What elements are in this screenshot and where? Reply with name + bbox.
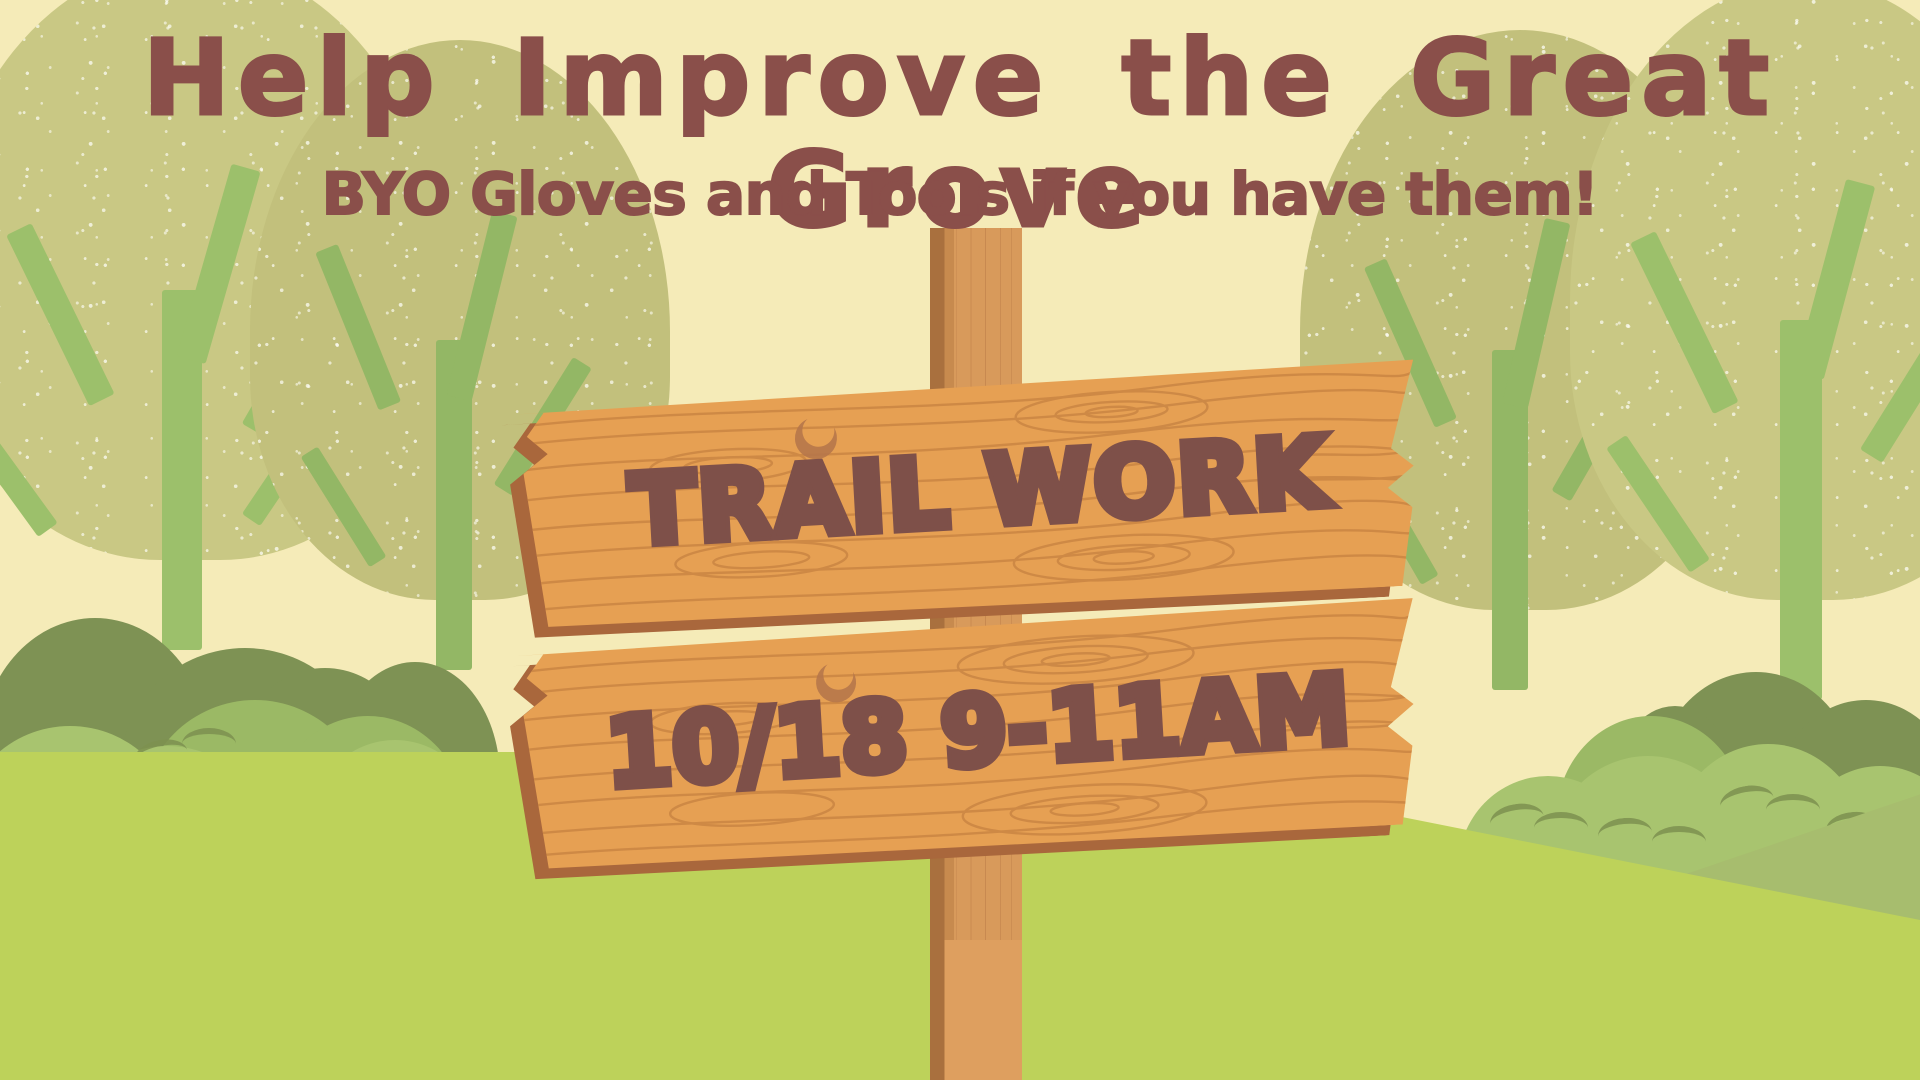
signpost-lower-section [930, 940, 1022, 1080]
sign-board-top[interactable]: TRAIL WORK [514, 355, 1425, 635]
bush-detail-mark [1766, 794, 1820, 826]
bush-detail-mark [1652, 826, 1706, 858]
bush-detail-mark [1534, 812, 1588, 844]
trail-work-poster: TRAIL WORK [0, 0, 1920, 1080]
page-subtitle: BYO Gloves and Tools if you have them! [0, 160, 1920, 228]
